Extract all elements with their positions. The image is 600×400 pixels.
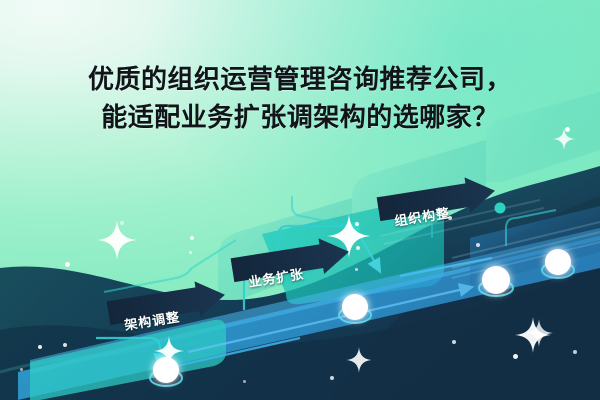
star-dot (356, 246, 360, 250)
star-dot (355, 268, 358, 271)
star-dot (513, 354, 518, 359)
star-dot (63, 343, 67, 347)
title-line-2: 能适配业务扩张调架构的选哪家？ (0, 98, 600, 136)
banner-canvas: 优质的组织运营管理咨询推荐公司， 能适配业务扩张调架构的选哪家？ 组织构整 (0, 0, 600, 400)
star-dot (243, 380, 246, 383)
star-dot (452, 340, 456, 344)
star-dot (573, 350, 577, 354)
star-dot (120, 221, 124, 225)
star-dot (189, 251, 192, 254)
star-dot (330, 376, 334, 380)
star-dot (38, 345, 42, 349)
star-dot (355, 222, 359, 226)
star-dot (65, 262, 70, 267)
page-title: 优质的组织运营管理咨询推荐公司， 能适配业务扩张调架构的选哪家？ (0, 60, 600, 136)
title-line-1: 优质的组织运营管理咨询推荐公司， (0, 60, 600, 98)
star-dot (20, 368, 23, 371)
star-dot (476, 243, 480, 247)
star-dot (190, 236, 194, 240)
